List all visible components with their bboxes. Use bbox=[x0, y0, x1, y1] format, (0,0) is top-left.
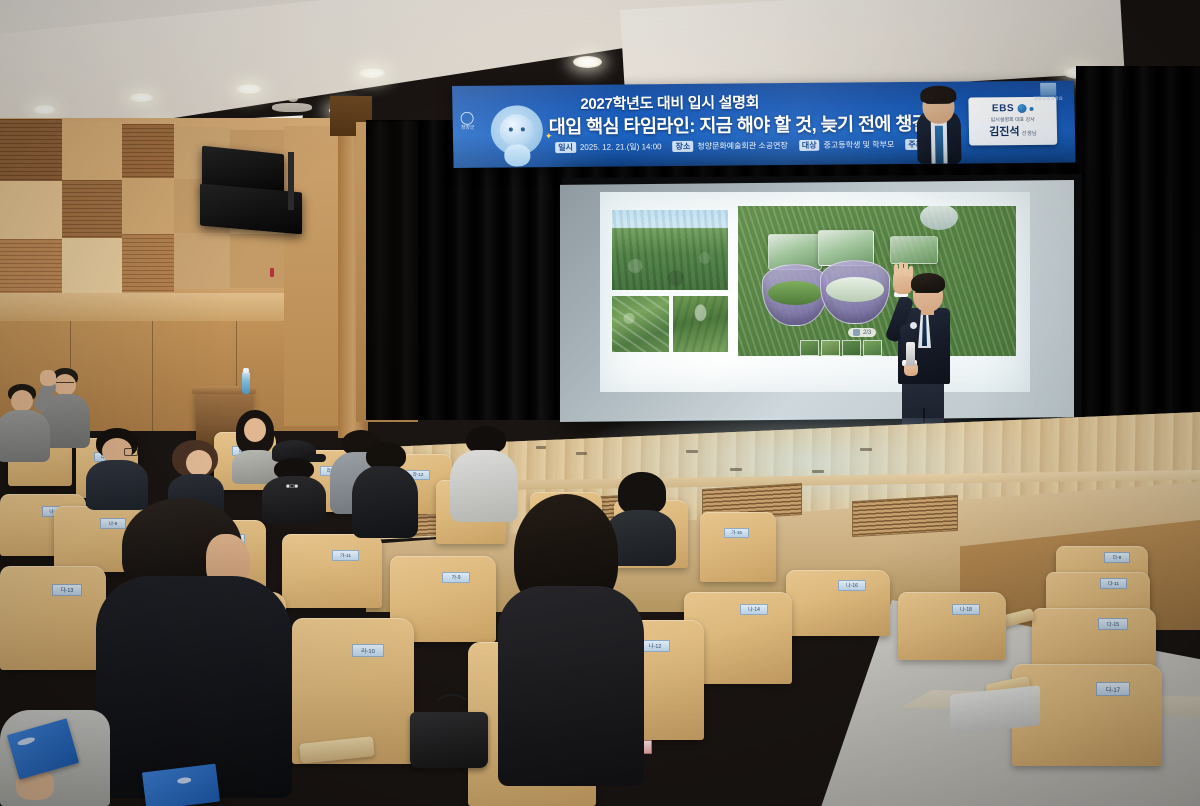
mascot-eye-right bbox=[521, 127, 525, 131]
wall-speaker-lower bbox=[200, 184, 302, 235]
wall-panel-c1 bbox=[0, 239, 62, 295]
banner-right-logo-label: 청양군평생학습 bbox=[1034, 96, 1063, 101]
wall-seam-2 bbox=[152, 321, 153, 431]
wall-panel-c3 bbox=[122, 234, 174, 292]
stage-inlay-6 bbox=[860, 448, 872, 451]
slide-photo-aerial bbox=[612, 296, 669, 352]
wall-panel-c2 bbox=[62, 238, 122, 294]
attendee-raised-hand-glasses bbox=[56, 382, 74, 383]
ebs-logo-dot-small bbox=[1029, 106, 1033, 110]
seat-plate-back-a9: 가-15 bbox=[724, 528, 749, 538]
seat-plate-right-r4: 다-17 bbox=[1096, 682, 1130, 696]
ebs-logo-dot bbox=[1017, 104, 1026, 113]
mascot-body bbox=[504, 144, 530, 166]
ceiling-vent-2 bbox=[272, 103, 312, 112]
wall-panel-b1 bbox=[0, 181, 62, 239]
stage-inlay-1 bbox=[536, 446, 546, 449]
wall-panel-b3 bbox=[122, 178, 174, 234]
seat-plate-mid-r3: 나-14 bbox=[740, 604, 768, 615]
stage-vent-grille-4 bbox=[852, 495, 958, 537]
downlight-2 bbox=[128, 92, 155, 103]
seat-plate-mid-r2: 나-16 bbox=[838, 580, 866, 591]
downlight-4 bbox=[235, 83, 263, 95]
harvest-crate-far bbox=[890, 236, 938, 264]
banner-title-line2: 대입 핵심 타임라인: 지금 해야 할 것, 늦기 전에 챙길 것 bbox=[549, 110, 950, 139]
downlight-6 bbox=[357, 67, 387, 79]
mascot-head bbox=[500, 114, 535, 146]
presenter-finger-2 bbox=[899, 262, 903, 276]
stage-inlay-4 bbox=[730, 468, 742, 471]
shoulder-bag-strap bbox=[432, 694, 472, 728]
attendee-back-left bbox=[0, 384, 56, 458]
banner-meta-row: 일시 2025. 12. 21.(일) 14:00 장소 청양문화예술회관 소공… bbox=[555, 139, 959, 154]
water-bottle-cap bbox=[243, 368, 249, 373]
seat-plate-right-r2: 다-11 bbox=[1100, 578, 1127, 589]
slide-pill-icon bbox=[853, 329, 860, 336]
presenter-neck bbox=[921, 307, 934, 315]
presenter-name-badge bbox=[910, 322, 917, 329]
photo-aerial-art bbox=[612, 296, 669, 352]
banner-right-logo-mark bbox=[1040, 83, 1056, 96]
county-logo: 청양군 bbox=[460, 112, 474, 131]
presenter-finger-3 bbox=[904, 263, 908, 276]
attendee-foreground-coat-body bbox=[96, 576, 292, 798]
attendee-cap-print: ■□■ bbox=[286, 484, 310, 494]
attendee-curly-head bbox=[186, 450, 212, 476]
meta-chip-venue-label: 장소 bbox=[672, 141, 693, 152]
downlight-1 bbox=[32, 104, 57, 115]
attendee-puffer bbox=[352, 442, 420, 538]
downlight-8 bbox=[573, 56, 602, 68]
handout-booklet-1-mark bbox=[17, 736, 36, 747]
speaker-portrait bbox=[900, 83, 976, 164]
meta-chip-date-label: 일시 bbox=[555, 142, 576, 153]
meta-value-venue: 청양문화예술회관 소공연장 bbox=[697, 140, 788, 152]
ebs-speaker-name-row: 김진석 선생님 bbox=[989, 123, 1037, 139]
ceiling-sprinkler bbox=[288, 96, 298, 102]
slide-thumbnail-strip bbox=[800, 340, 882, 356]
wall-panel-a2 bbox=[62, 122, 122, 180]
seat-mid-r1[interactable] bbox=[898, 592, 1006, 660]
wall-panel-a1 bbox=[0, 119, 62, 181]
presenter-microphone bbox=[906, 342, 915, 366]
wall-panel-b2 bbox=[62, 180, 122, 238]
stage-inlay-3 bbox=[686, 450, 698, 453]
slide-photo-field bbox=[612, 210, 728, 290]
photo-field-art bbox=[612, 210, 728, 290]
slide-thumb-3 bbox=[842, 340, 861, 356]
mascot-eye-left bbox=[509, 127, 513, 131]
county-logo-mark bbox=[461, 112, 474, 125]
banner-content: 청양군 ✦ 2027학년도 대비 입시 설명회 대입 핵심 타임라인: 지금 해… bbox=[452, 81, 1076, 168]
seat-left-l4[interactable] bbox=[282, 534, 382, 608]
meta-chip-audience-label: 대상 bbox=[799, 140, 820, 151]
slide-caption-pill: 2/3 bbox=[848, 328, 876, 337]
presenter-hair bbox=[911, 273, 945, 293]
meta-value-date: 2025. 12. 21.(일) 14:00 bbox=[580, 141, 662, 153]
projection-screen-surface: 2/3 bbox=[560, 180, 1074, 422]
presenter-finger-1 bbox=[894, 264, 898, 276]
auditorium-scene: 청양군 ✦ 2027학년도 대비 입시 설명회 대입 핵심 타임라인: 지금 해… bbox=[0, 0, 1200, 806]
attendee-cap-brim bbox=[308, 454, 326, 462]
seat-plate-front-f1: 다-13 bbox=[52, 584, 82, 596]
attendee-raised-hand-head bbox=[54, 374, 76, 396]
presenter-glasses bbox=[915, 291, 939, 293]
county-logo-label: 청양군 bbox=[461, 125, 475, 131]
wall-panel-a3 bbox=[122, 124, 174, 178]
ebs-wordmark: EBS bbox=[992, 103, 1014, 114]
water-bottle bbox=[242, 372, 250, 394]
stage-inlay-2 bbox=[576, 452, 587, 455]
stage-inlay-5 bbox=[812, 470, 824, 473]
basket-fill-greens-left bbox=[768, 281, 822, 305]
attendee-center-back-head bbox=[244, 418, 266, 442]
event-banner: 청양군 ✦ 2027학년도 대비 입시 설명회 대입 핵심 타임라인: 지금 해… bbox=[452, 81, 1076, 168]
seat-plate-right-r3: 다-15 bbox=[1098, 618, 1128, 630]
slide-thumb-2 bbox=[821, 340, 840, 356]
wall-panel-c5 bbox=[230, 234, 284, 288]
wall-panel-c4 bbox=[174, 233, 230, 289]
seat-plate-front-f3: 라-10 bbox=[352, 644, 384, 657]
attendee-glasses-frames bbox=[124, 448, 138, 456]
attendee-back-left-head bbox=[11, 390, 33, 412]
slide-caption-text: 2/3 bbox=[863, 330, 871, 336]
attendee-foreground-hoodie bbox=[498, 494, 648, 784]
photo-tree-art bbox=[673, 296, 728, 352]
attendee-foreground-coat bbox=[96, 498, 296, 798]
fire-alarm-indicator bbox=[270, 268, 274, 277]
ebs-speaker-name: 김진석 bbox=[989, 123, 1020, 139]
seat-back-a9[interactable] bbox=[700, 512, 776, 582]
basket-fill-greens-right bbox=[826, 277, 883, 302]
ebs-speaker-honorific: 선생님 bbox=[1022, 129, 1037, 137]
seat-plate-left-l5: 가-9 bbox=[442, 572, 470, 583]
attendee-puffer-body bbox=[352, 466, 418, 538]
seat-front-f1[interactable] bbox=[0, 566, 106, 670]
seat-plate-mid-r1: 나-18 bbox=[952, 604, 980, 615]
downlight-7 bbox=[366, 72, 367, 73]
seat-plate-right-r1: 다-9 bbox=[1104, 552, 1130, 563]
attendee-back-left-body bbox=[0, 410, 50, 462]
banner-title-line1: 2027학년도 대비 입시 설명회 bbox=[580, 91, 759, 114]
seat-plate-left-l4: 가-11 bbox=[332, 550, 359, 561]
speaker-bracket bbox=[288, 152, 294, 210]
ebs-brand-row: EBS bbox=[992, 103, 1033, 114]
meta-value-audience: 중고등학생 및 학부모 bbox=[823, 139, 894, 151]
presenter-finger-4 bbox=[909, 266, 913, 277]
slide-photo-tree bbox=[673, 296, 728, 352]
banner-right-logo: 청양군평생학습 bbox=[1026, 83, 1070, 102]
ebs-speaker-card: EBS 입시설명회 대표 강사 김진석 선생님 bbox=[968, 97, 1057, 146]
handout-booklet-2-mark bbox=[177, 777, 192, 785]
attendee-foreground-body bbox=[498, 586, 644, 786]
slide-thumb-1 bbox=[800, 340, 819, 356]
